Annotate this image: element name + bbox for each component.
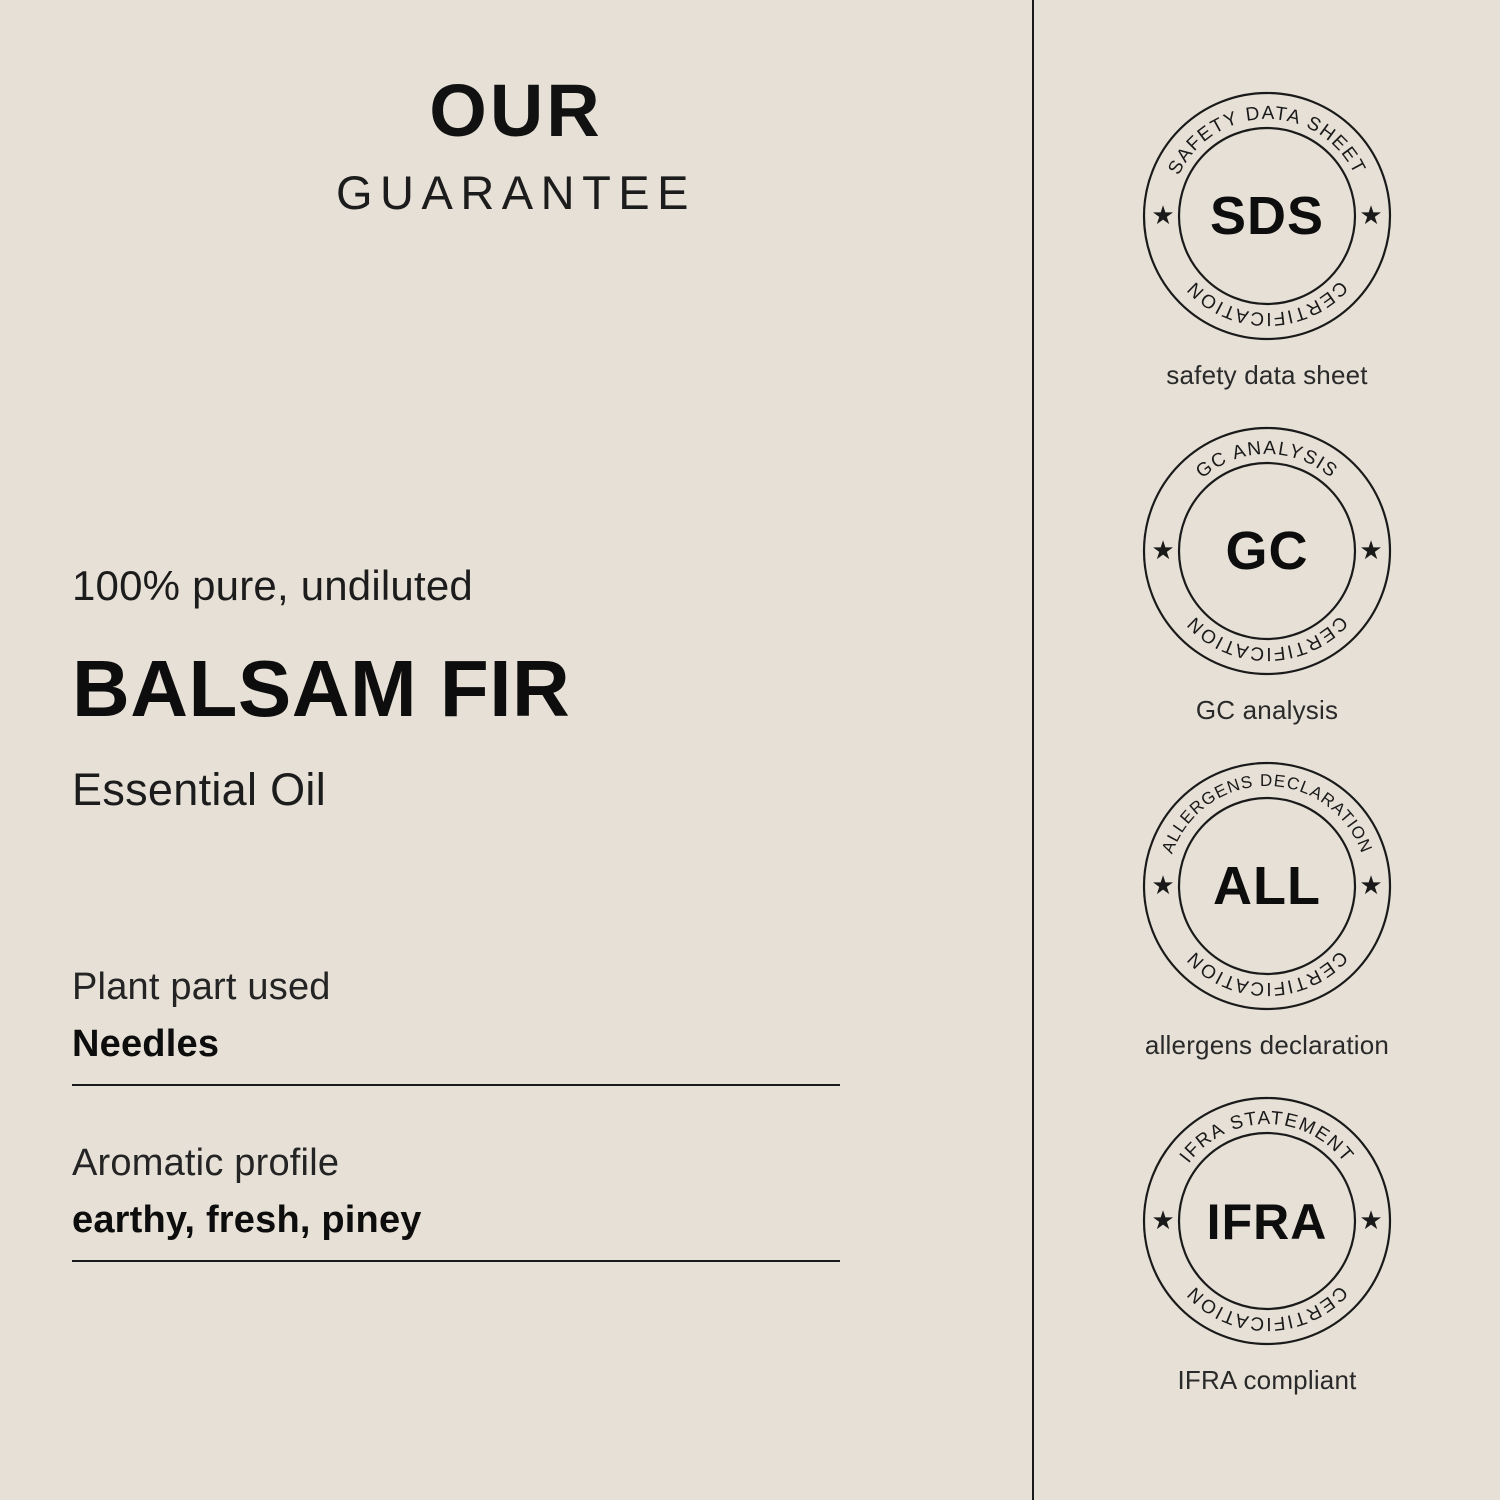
- page-title: OUR GUARANTEE: [0, 74, 1032, 216]
- spec-label: Aromatic profile: [72, 1144, 840, 1182]
- certification-badge-allergens: ALLERGENS DECLARATION CERTIFICATION ★ ★ …: [1034, 760, 1500, 1058]
- svg-text:CERTIFICATION: CERTIFICATION: [1183, 612, 1352, 665]
- badge-caption: allergens declaration: [1034, 1032, 1500, 1058]
- spec-divider: [72, 1084, 840, 1086]
- star-right-icon: ★: [1359, 535, 1382, 565]
- seal-bottom-text: CERTIFICATION: [1183, 947, 1352, 1000]
- star-left-icon: ★: [1151, 535, 1174, 565]
- seal-bottom-text: CERTIFICATION: [1183, 612, 1352, 665]
- seal-abbreviation: SDS: [1210, 186, 1324, 246]
- svg-text:CERTIFICATION: CERTIFICATION: [1183, 947, 1352, 1000]
- seal-abbreviation: IFRA: [1207, 1194, 1328, 1250]
- star-right-icon: ★: [1359, 200, 1382, 230]
- seal-icon: IFRA STATEMENT CERTIFICATION ★ ★ IFRA: [1141, 1095, 1393, 1347]
- seal-abbreviation: GC: [1226, 521, 1309, 581]
- star-left-icon: ★: [1151, 870, 1174, 900]
- seal-top-text: GC ANALYSIS: [1192, 438, 1342, 483]
- badge-caption: safety data sheet: [1034, 362, 1500, 388]
- product-guarantee-infographic: OUR GUARANTEE 100% pure, undiluted BALSA…: [0, 0, 1500, 1500]
- star-right-icon: ★: [1359, 870, 1382, 900]
- star-left-icon: ★: [1151, 1205, 1174, 1235]
- page-title-line-2: GUARANTEE: [0, 169, 1032, 216]
- product-identity: 100% pure, undiluted BALSAM FIR Essentia…: [72, 565, 972, 812]
- page-title-line-1: OUR: [0, 74, 1032, 148]
- svg-text:CERTIFICATION: CERTIFICATION: [1183, 1282, 1352, 1335]
- certification-badge-sds: SAFETY DATA SHEET CERTIFICATION ★ ★ SDS …: [1034, 90, 1500, 388]
- seal-bottom-text: CERTIFICATION: [1183, 1282, 1352, 1335]
- star-left-icon: ★: [1151, 200, 1174, 230]
- seal-icon: SAFETY DATA SHEET CERTIFICATION ★ ★ SDS: [1141, 90, 1393, 342]
- certification-badge-gc: GC ANALYSIS CERTIFICATION ★ ★ GC GC anal…: [1034, 425, 1500, 723]
- badge-caption: IFRA compliant: [1034, 1367, 1500, 1393]
- star-right-icon: ★: [1359, 1205, 1382, 1235]
- spec-value: Needles: [72, 1025, 840, 1063]
- certification-badge-ifra: IFRA STATEMENT CERTIFICATION ★ ★ IFRA IF…: [1034, 1095, 1500, 1393]
- seal-abbreviation: ALL: [1213, 856, 1321, 916]
- spec-divider: [72, 1260, 840, 1262]
- seal-icon: GC ANALYSIS CERTIFICATION ★ ★ GC: [1141, 425, 1393, 677]
- product-type: Essential Oil: [72, 767, 972, 812]
- left-panel: OUR GUARANTEE 100% pure, undiluted BALSA…: [0, 0, 1032, 1500]
- certification-panel: SAFETY DATA SHEET CERTIFICATION ★ ★ SDS …: [1034, 0, 1500, 1500]
- seal-bottom-text: CERTIFICATION: [1183, 277, 1352, 330]
- svg-text:GC ANALYSIS: GC ANALYSIS: [1192, 438, 1342, 483]
- product-tagline: 100% pure, undiluted: [72, 565, 972, 607]
- badge-caption: GC analysis: [1034, 697, 1500, 723]
- spec-list: Plant part used Needles Aromatic profile…: [72, 968, 840, 1262]
- product-name: BALSAM FIR: [72, 649, 972, 729]
- spec-row-aromatic-profile: Aromatic profile earthy, fresh, piney: [72, 1144, 840, 1262]
- spec-label: Plant part used: [72, 968, 840, 1006]
- seal-icon: ALLERGENS DECLARATION CERTIFICATION ★ ★ …: [1141, 760, 1393, 1012]
- spec-row-plant-part: Plant part used Needles: [72, 968, 840, 1086]
- spec-value: earthy, fresh, piney: [72, 1201, 840, 1239]
- svg-text:CERTIFICATION: CERTIFICATION: [1183, 277, 1352, 330]
